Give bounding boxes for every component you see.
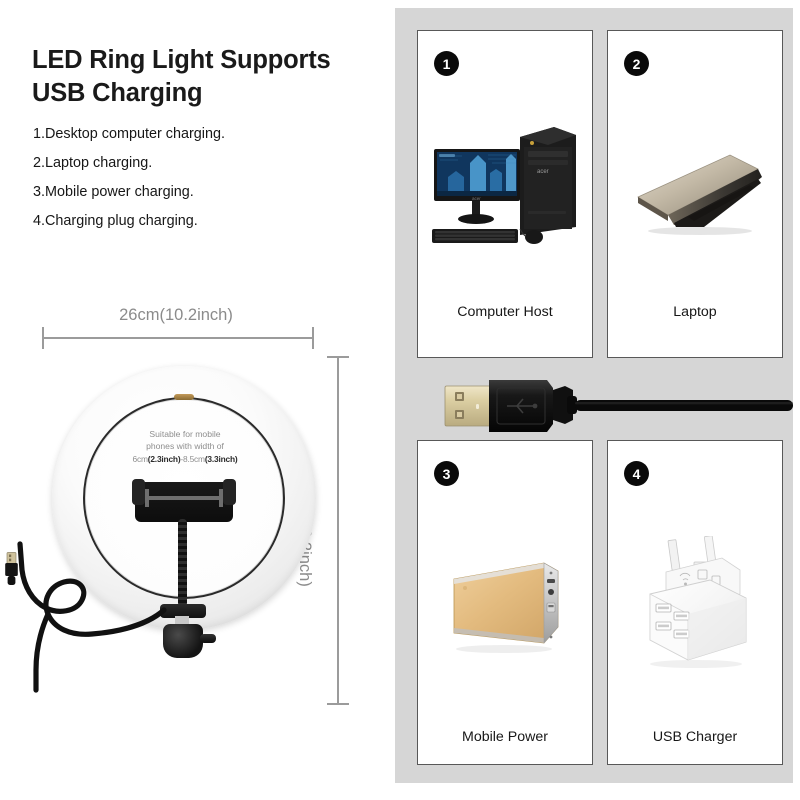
laptop-icon (630, 139, 766, 239)
desktop-computer-icon: acer acer (428, 123, 586, 253)
list-item: 1.Desktop computer charging. (33, 127, 363, 141)
phone-holder-note-line-2: phones with width of (146, 441, 224, 451)
led-ring-light: Suitable for mobile phones with width of… (52, 366, 316, 686)
panel-computer-host[interactable]: 1 acer (417, 30, 593, 358)
right-column: 1 acer (395, 8, 793, 783)
phone-holder-note-min-cm: 6cm (133, 454, 148, 464)
clamp-bar-cap-right (219, 489, 223, 507)
clamp-jaw-right (223, 479, 236, 505)
panel-mobile-power[interactable]: 3 (417, 440, 593, 765)
usb-wall-charger-icon (636, 536, 758, 672)
page-title: LED Ring Light Supports USB Charging (32, 44, 372, 109)
clamp-jaw-left (132, 479, 145, 505)
clamp-bar-cap-left (145, 489, 149, 507)
panel-caption: Laptop (608, 304, 782, 320)
page-title-line-2: USB Charging (32, 79, 202, 107)
height-dimension-cap-top (327, 356, 349, 358)
feature-list: 1.Desktop computer charging. 2.Laptop ch… (33, 127, 363, 243)
list-item: 2.Laptop charging. (33, 156, 363, 170)
usb-a-connector-icon (4, 552, 19, 586)
panel-caption: USB Charger (608, 729, 782, 745)
power-cable (0, 514, 256, 694)
svg-text:acer: acer (472, 196, 481, 201)
svg-text:acer: acer (537, 169, 549, 175)
width-dimension-label: 26cm(10.2inch) (40, 306, 312, 325)
list-item: 4.Charging plug charging. (33, 214, 363, 228)
phone-holder-note-min-inch: (2.3inch) (148, 454, 181, 464)
width-dimension-line (42, 337, 314, 339)
height-dimension-line (337, 356, 339, 704)
phone-holder-note-line-1: Suitable for mobile (149, 429, 220, 439)
left-column: LED Ring Light Supports USB Charging 1.D… (0, 0, 392, 800)
badge-3: 3 (434, 461, 459, 486)
width-dimension-cap-left (42, 327, 44, 349)
badge-4: 4 (624, 461, 649, 486)
phone-holder-note-max-inch: (3.3inch) (205, 454, 238, 464)
list-item: 3.Mobile power charging. (33, 185, 363, 199)
ring-top-contact-icon (174, 394, 194, 400)
panel-caption: Mobile Power (418, 729, 592, 745)
panel-usb-charger[interactable]: 4 (607, 440, 783, 765)
width-dimension-cap-right (312, 327, 314, 349)
phone-holder-note-max-cm: -8.5cm (180, 454, 204, 464)
badge-1: 1 (434, 51, 459, 76)
panel-laptop[interactable]: 2 (607, 30, 783, 358)
clamp-spring-bar (145, 496, 223, 500)
height-dimension-cap-bottom (327, 703, 349, 705)
badge-2: 2 (624, 51, 649, 76)
panel-caption: Computer Host (418, 304, 592, 320)
phone-holder-note: Suitable for mobile phones with width of… (115, 428, 255, 465)
infographic-page: LED Ring Light Supports USB Charging 1.D… (0, 0, 800, 800)
page-title-line-1: LED Ring Light Supports (32, 46, 331, 74)
power-bank-icon (448, 549, 568, 669)
usb-a-connector-icon (443, 376, 793, 434)
